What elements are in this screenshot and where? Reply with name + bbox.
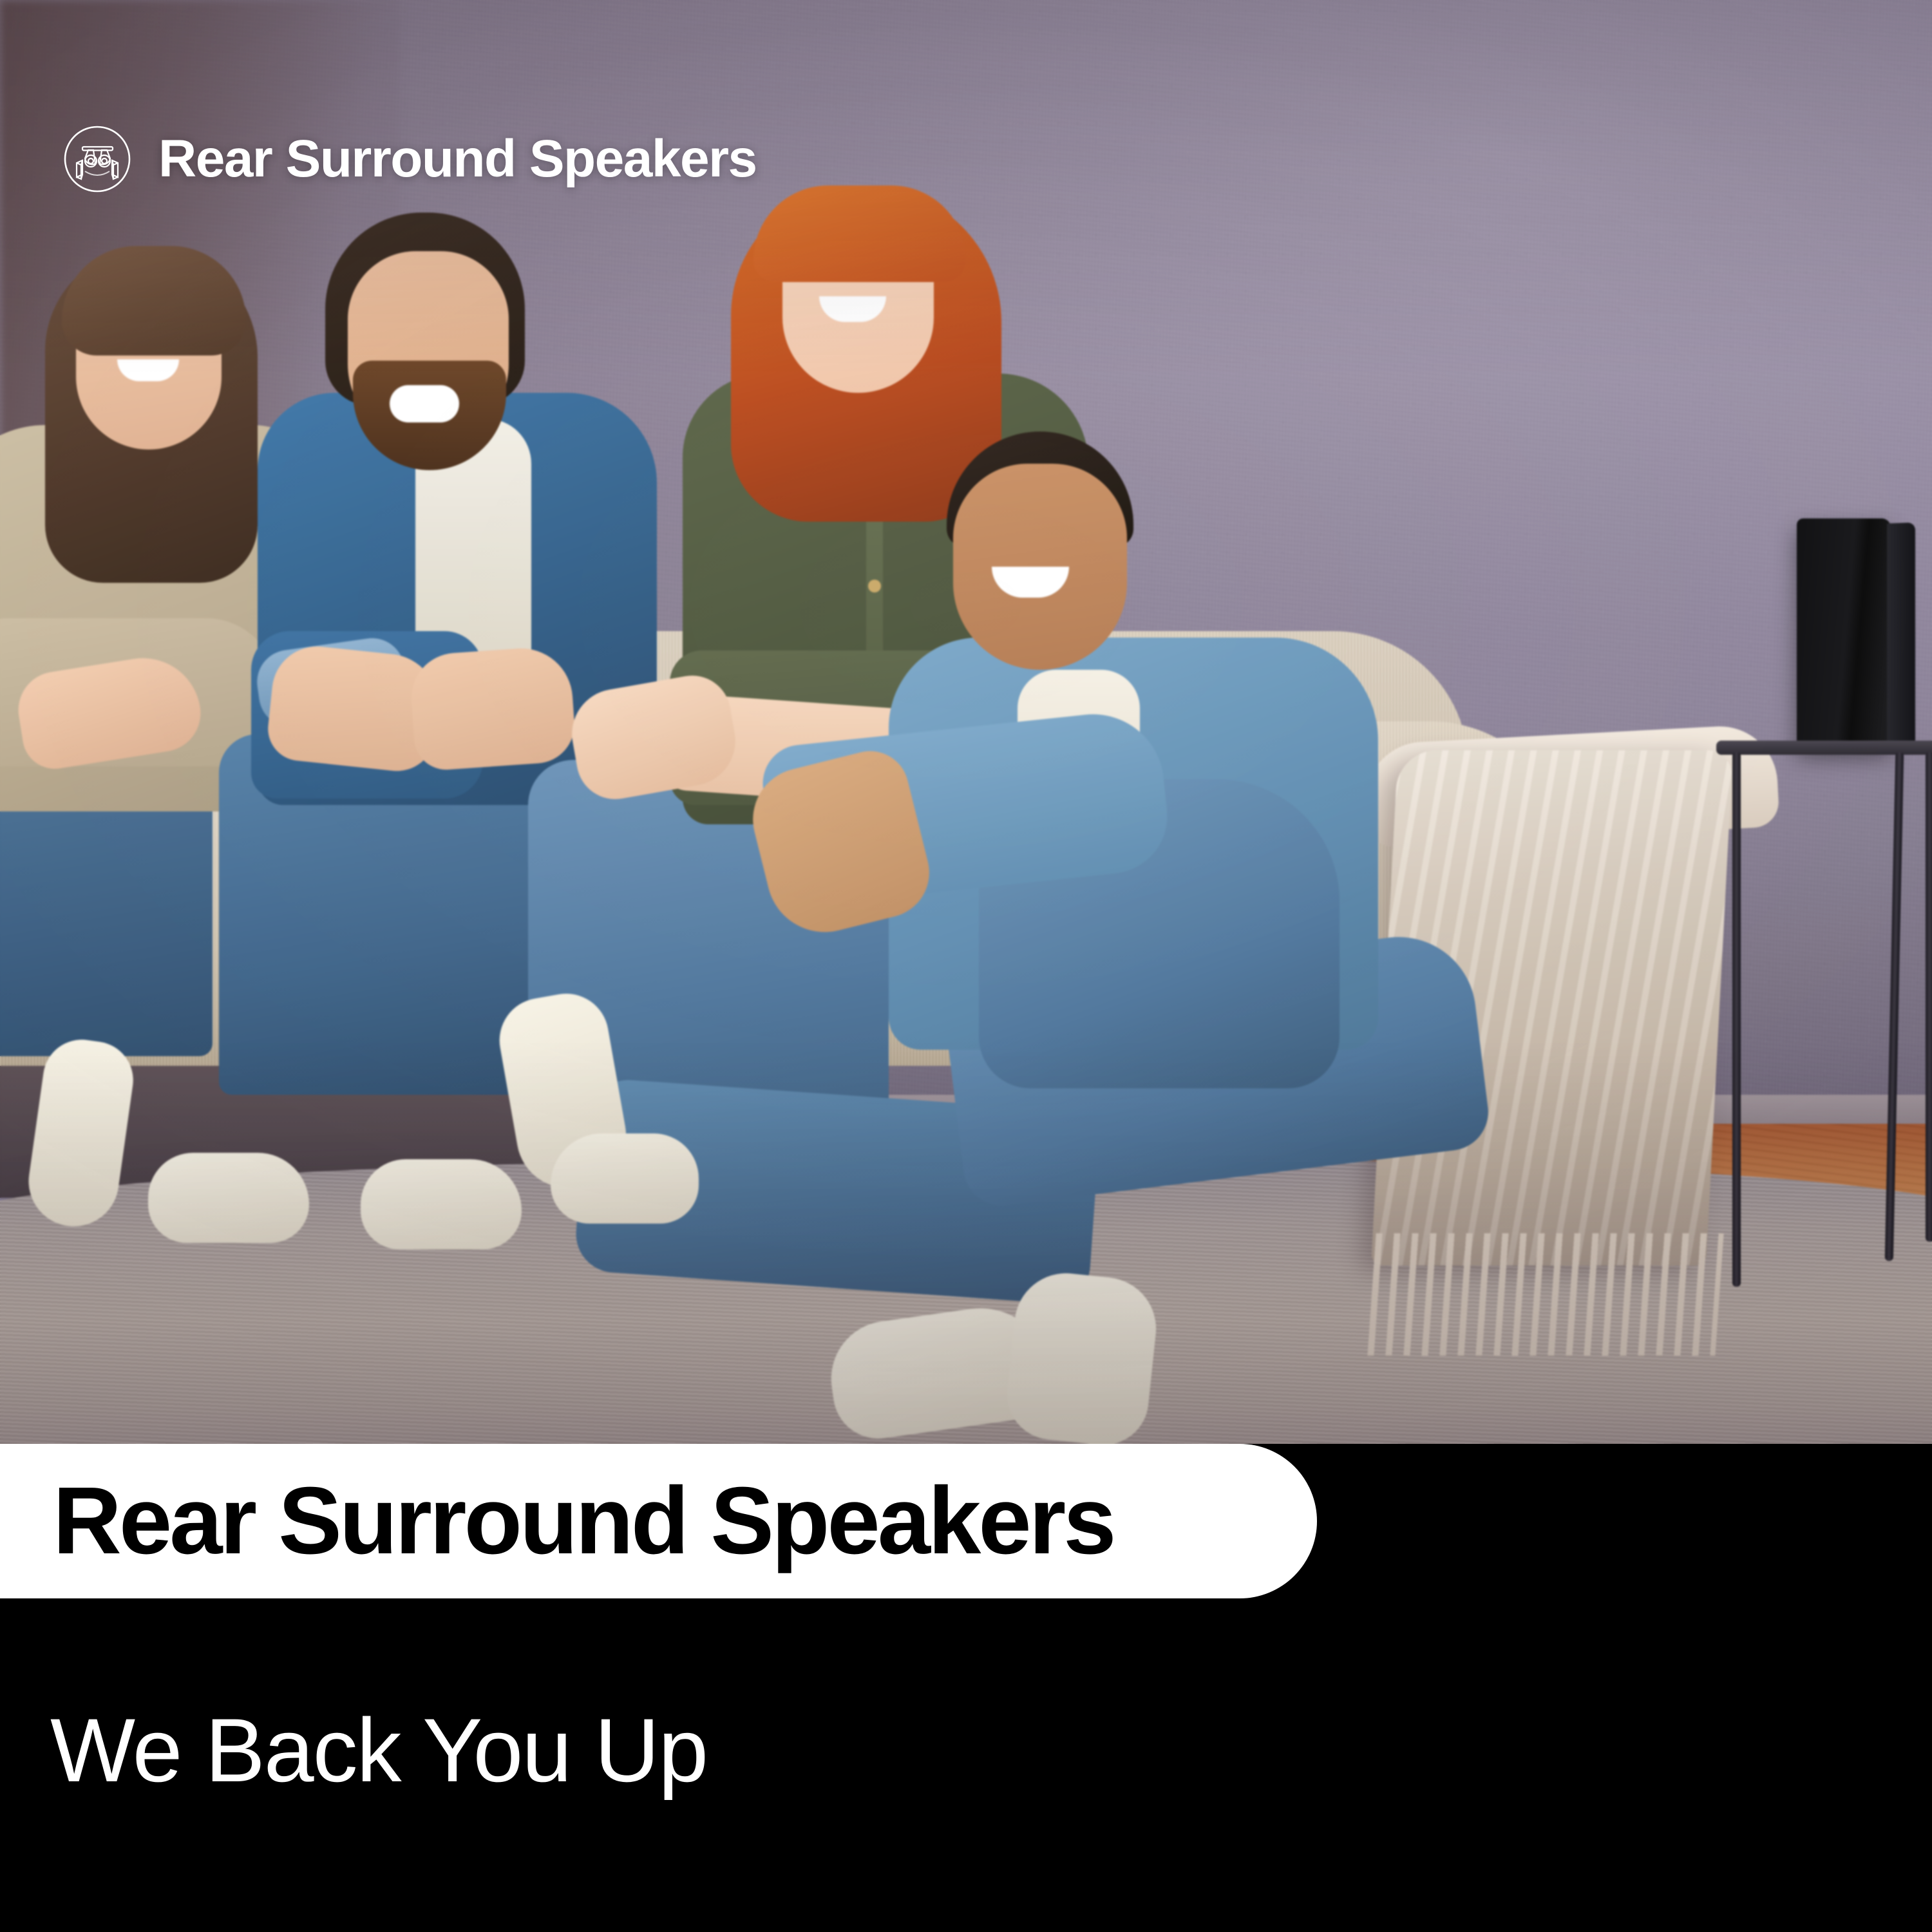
sock	[148, 1153, 309, 1243]
person-3-hair-front	[753, 185, 966, 282]
product-title: Rear Surround Speakers	[53, 1473, 1114, 1569]
header-title: Rear Surround Speakers	[158, 133, 757, 185]
header-badge: Rear Surround Speakers	[62, 124, 757, 194]
lifestyle-photo	[0, 0, 1932, 1444]
promo-card: Rear Surround Speakers Rear Surround Spe…	[0, 0, 1932, 1932]
footer-tagline: We Back You Up	[50, 1705, 707, 1795]
sock	[1003, 1268, 1161, 1444]
sock	[361, 1159, 522, 1249]
rear-surround-speaker-side	[1887, 522, 1915, 746]
product-title-pill: Rear Surround Speakers	[0, 1444, 1317, 1598]
sock	[551, 1133, 699, 1224]
side-table-leg	[1926, 752, 1932, 1242]
person-2-smile	[390, 385, 459, 422]
throw-blanket-fringe	[1367, 1233, 1723, 1356]
rear-surround-speaker	[1797, 518, 1891, 747]
person-3-shirt-button	[868, 580, 881, 592]
side-table-leg	[1732, 752, 1741, 1287]
person-1-hair-front	[62, 246, 246, 355]
rear-surround-speakers-icon	[62, 124, 133, 194]
person-2-hand-right	[408, 645, 577, 772]
pill-row-background	[1317, 1444, 1932, 1598]
